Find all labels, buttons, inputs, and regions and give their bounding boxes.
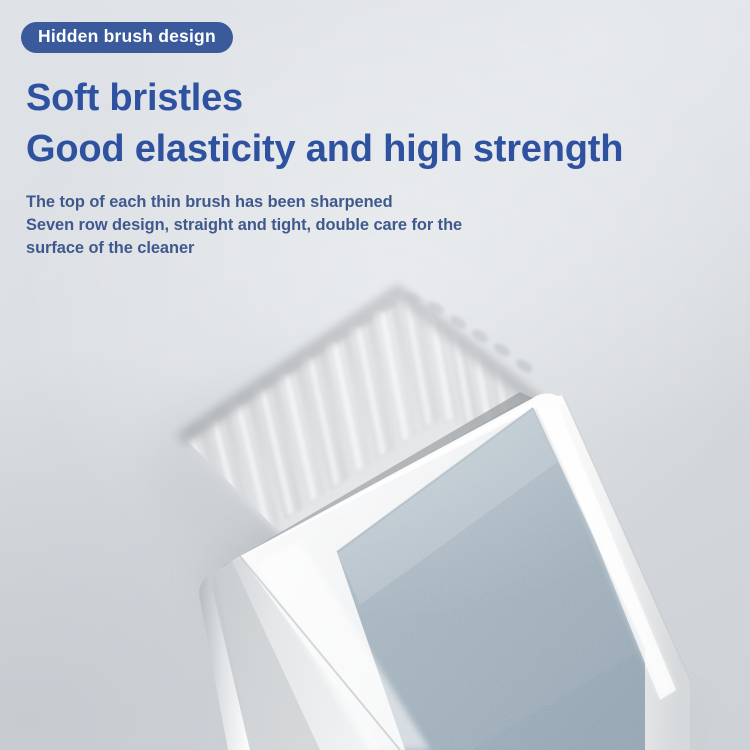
headline: Soft bristles Good elasticity and high s…: [26, 73, 750, 175]
suede-pad: [300, 380, 700, 750]
headline-line-1: Soft bristles: [26, 73, 750, 124]
subcopy: The top of each thin brush has been shar…: [26, 191, 750, 260]
housing-highlight: [255, 414, 676, 750]
subcopy-line-1: The top of each thin brush has been shar…: [26, 191, 750, 214]
housing-mouth-rim: [222, 398, 545, 566]
subcopy-line-2: Seven row design, straight and tight, do…: [26, 214, 750, 237]
bristle-tips: [176, 288, 548, 446]
housing-left-face: [215, 556, 400, 750]
housing-cavity: [223, 392, 545, 585]
subcopy-line-3: surface of the cleaner: [26, 237, 750, 260]
product-feature-banner: Hidden brush design Soft bristles Good e…: [0, 0, 750, 750]
copy-block: Hidden brush design Soft bristles Good e…: [0, 0, 750, 260]
headline-line-2: Good elasticity and high strength: [26, 124, 750, 175]
housing-front-face: [240, 400, 660, 750]
housing-top-corner: [533, 394, 566, 409]
feature-badge: Hidden brush design: [21, 22, 233, 53]
brush-bristles: [176, 284, 548, 600]
product-shadow: [205, 455, 700, 750]
housing-left-bevel: [199, 572, 250, 750]
housing-right-rim: [533, 395, 690, 750]
